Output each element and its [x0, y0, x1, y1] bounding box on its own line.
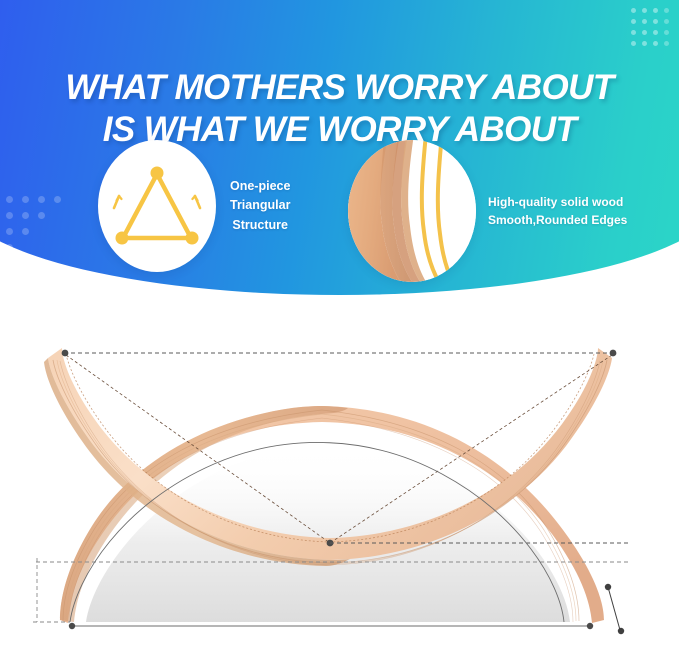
feature-label-one-piece: One-piece Triangular Structure	[230, 177, 290, 235]
wood-edge-photo	[348, 140, 476, 282]
feature-label-solid-wood: High-quality solid wood Smooth,Rounded E…	[488, 193, 627, 229]
triangle-structure-svg	[98, 140, 216, 272]
feature-one-piece-triangular: One-piece Triangular Structure	[98, 140, 290, 272]
triangle-structure-icon	[98, 140, 216, 272]
headline-line-1: WHAT MOTHERS WORRY ABOUT	[65, 68, 613, 107]
wood-edge-photo-svg	[348, 140, 476, 282]
feature-solid-wood-edges: High-quality solid wood Smooth,Rounded E…	[348, 140, 627, 282]
header-banner: WHAT MOTHERS WORRY ABOUT IS WHAT WE WORR…	[0, 0, 679, 300]
product-dimension-diagram: 0.66 inches 9.2 inches 12.3 inches 42 in…	[0, 300, 679, 646]
infographic-root: WHAT MOTHERS WORRY ABOUT IS WHAT WE WORR…	[0, 0, 679, 646]
product-photo-svg	[0, 300, 679, 646]
